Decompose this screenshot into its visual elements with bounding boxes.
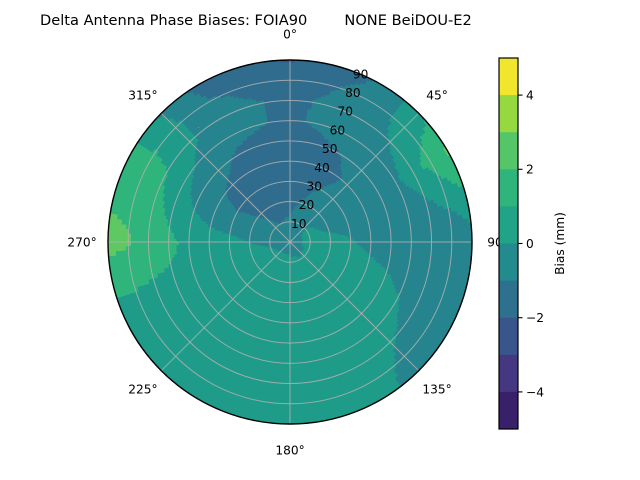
colorbar-band [499,318,518,356]
colorbar-band [499,169,518,207]
polar-plot-svg: 0°45°90°135°180°225°270°315° 10203040506… [0,0,640,480]
colorbar-band [499,58,518,96]
angular-tick-180: 180° [275,444,304,458]
angular-tick-45: 45° [426,88,448,102]
radial-tick-90: 90 [353,67,369,81]
colorbar-band [499,281,518,319]
radial-tick-70: 70 [337,105,353,119]
colorbar[interactable]: 420−2−4 Bias (mm) [499,58,567,430]
colorbar-band [499,392,518,430]
colorbar-band [499,355,518,393]
radial-tick-10: 10 [291,217,307,231]
angular-tick-135: 135° [422,383,451,397]
colorbar-band [499,206,518,244]
colorbar-band [499,244,518,282]
colorbar-tick-label: −2 [526,311,544,325]
radial-tick-60: 60 [330,123,346,137]
radial-tick-80: 80 [345,86,361,100]
colorbar-tick-label: 4 [526,89,534,103]
polar-gridlines [108,60,472,424]
colorbar-axis-label: Bias (mm) [553,212,567,275]
colorbar-tick-label: −4 [526,385,544,399]
radial-tick-20: 20 [299,198,315,212]
figure-canvas: Delta Antenna Phase Biases: FOIA90 NONE … [0,0,640,480]
radial-tick-40: 40 [314,161,330,175]
radial-tick-50: 50 [322,142,338,156]
angular-tick-225: 225° [128,383,157,397]
angular-tick-315: 315° [128,88,157,102]
figure-title: Delta Antenna Phase Biases: FOIA90 NONE … [40,12,472,29]
colorbar-band [499,132,518,170]
angular-tick-270: 270° [67,236,96,250]
colorbar-tick-label: 0 [526,237,534,251]
colorbar-band [499,95,518,133]
colorbar-tick-label: 2 [526,163,534,177]
angular-tick-0: 0° [283,28,297,42]
colorbar-ticks: 420−2−4 [518,89,544,400]
radial-tick-30: 30 [306,180,322,194]
colorbar-bands [499,58,518,430]
